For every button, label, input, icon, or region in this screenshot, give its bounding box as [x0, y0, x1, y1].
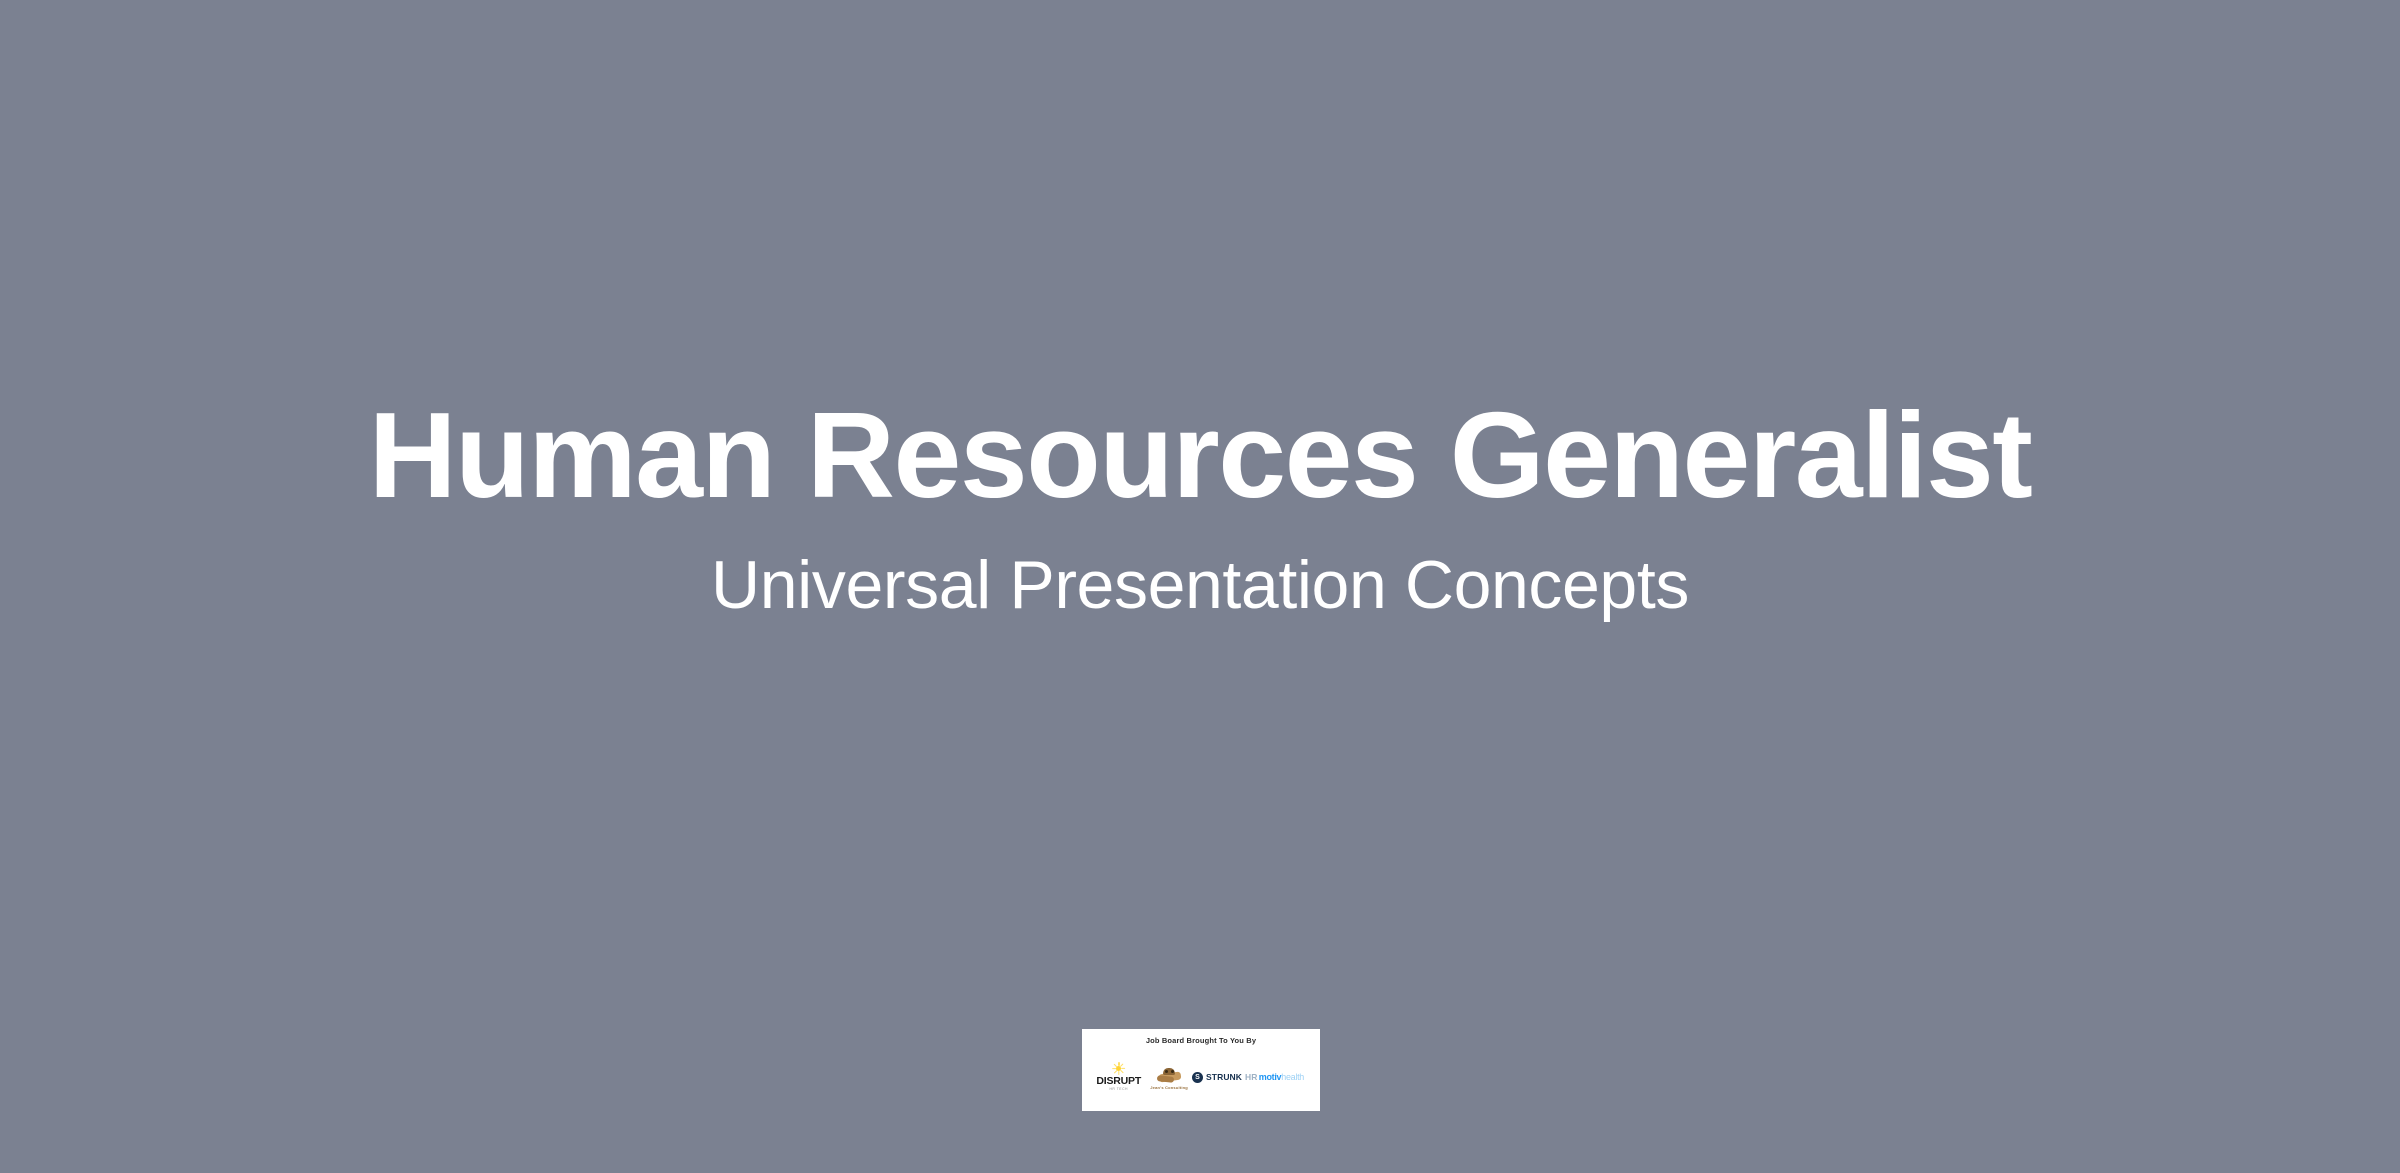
sun-icon [1112, 1062, 1125, 1075]
sponsor-logo-jeans-consulting: Jean's Consulting [1143, 1065, 1194, 1090]
illustration-icon [1154, 1065, 1184, 1085]
page-subtitle: Universal Presentation Concepts [0, 544, 2400, 626]
sponsor-logo-disrupt-wordmark: DISRUPT [1096, 1076, 1141, 1087]
sponsor-logo-disrupt-tagline: HR TECH [1109, 1088, 1128, 1091]
presentation-slide: Human Resources Generalist Universal Pre… [0, 0, 2400, 1173]
sponsor-logo-strunk-wordmark: STRUNK [1206, 1073, 1242, 1082]
title-block: Human Resources Generalist Universal Pre… [0, 0, 2400, 1173]
sponsor-logo-disrupt: DISRUPT HR TECH [1094, 1062, 1143, 1091]
sponsor-logo-strunk-hr: S STRUNK HR [1195, 1072, 1255, 1083]
sponsor-card-heading: Job Board Brought To You By [1146, 1036, 1256, 1046]
sponsor-logo-jeans-consulting-wordmark: Jean's Consulting [1150, 1086, 1188, 1090]
sponsor-logo-motivhealth-wordmark-secondary: health [1281, 1073, 1304, 1082]
sponsor-logo-motivhealth: motiv health [1255, 1073, 1308, 1082]
sponsor-card: Job Board Brought To You By DISRUPT HR T… [1082, 1029, 1320, 1111]
circle-badge-icon: S [1192, 1072, 1203, 1083]
sponsor-logo-row: DISRUPT HR TECH Jean's Consulting S [1092, 1049, 1310, 1105]
page-title: Human Resources Generalist [0, 392, 2400, 518]
sponsor-logo-motivhealth-wordmark-primary: motiv [1259, 1073, 1282, 1082]
circle-badge-letter: S [1195, 1074, 1200, 1081]
